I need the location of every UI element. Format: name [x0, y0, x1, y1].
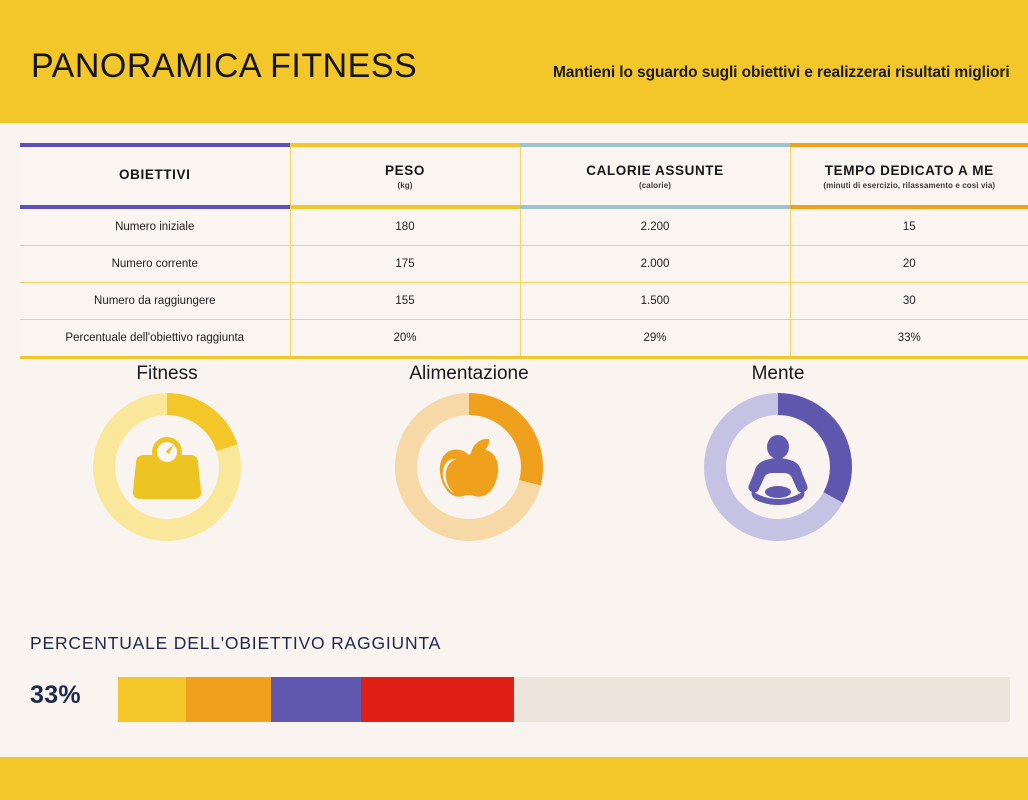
- progress-segment-mente: [271, 677, 361, 722]
- column-header-obiettivi: OBIETTIVI: [20, 147, 290, 205]
- table-row: Numero da raggiungere 155 1.500 30: [20, 283, 1028, 320]
- cell-calorie: 1.500: [520, 283, 790, 320]
- progress-segment-fitness: [118, 677, 186, 722]
- column-header-peso: PESO (kg): [290, 147, 520, 205]
- donut-gauge-group: Fitness Alimentazione: [0, 363, 1028, 578]
- donut-card-fitness: Fitness: [47, 363, 287, 541]
- progress-label: PERCENTUALE DELL'OBIETTIVO RAGGIUNTA: [30, 633, 441, 654]
- column-subtitle: (calorie): [639, 181, 671, 190]
- progress-bar[interactable]: [118, 677, 1010, 722]
- donut-title: Mente: [658, 363, 898, 385]
- donut-card-mente: Mente: [658, 363, 898, 541]
- page-title: PANORAMICA FITNESS: [31, 47, 417, 86]
- cell-peso: 155: [290, 283, 520, 320]
- goals-table: OBIETTIVI PESO (kg) CALORIE ASSUNTE: [20, 143, 1028, 359]
- donut-chart-alimentazione: [349, 393, 589, 541]
- row-label: Numero corrente: [20, 246, 290, 283]
- main-content: OBIETTIVI PESO (kg) CALORIE ASSUNTE: [0, 123, 1028, 757]
- cell-tempo: 20: [790, 246, 1028, 283]
- donut-chart-mente: [658, 393, 898, 541]
- row-label: Percentuale dell'obiettivo raggiunta: [20, 320, 290, 358]
- column-subtitle: (minuti di esercizio, rilassamento e cos…: [823, 181, 995, 190]
- weight-scale-icon: [133, 437, 201, 499]
- column-header-tempo: TEMPO DEDICATO A ME (minuti di esercizio…: [790, 147, 1028, 205]
- column-title: TEMPO DEDICATO A ME: [825, 163, 994, 178]
- cell-peso: 20%: [290, 320, 520, 358]
- column-title: PESO: [385, 163, 425, 178]
- donut-title: Alimentazione: [349, 363, 589, 385]
- cell-tempo: 30: [790, 283, 1028, 320]
- page-header: PANORAMICA FITNESS Mantieni lo sguardo s…: [0, 0, 1028, 123]
- table-row: Numero corrente 175 2.000 20: [20, 246, 1028, 283]
- table-row: Numero iniziale 180 2.200 15: [20, 209, 1028, 246]
- header-tagline: Mantieni lo sguardo sugli obiettivi e re…: [553, 64, 1010, 82]
- page-footer-band: [0, 757, 1028, 800]
- cell-calorie: 2.000: [520, 246, 790, 283]
- cell-tempo: 33%: [790, 320, 1028, 358]
- cell-peso: 175: [290, 246, 520, 283]
- table-row: Percentuale dell'obiettivo raggiunta 20%…: [20, 320, 1028, 358]
- cell-tempo: 15: [790, 209, 1028, 246]
- cell-peso: 180: [290, 209, 520, 246]
- apple-icon: [440, 439, 498, 497]
- row-label: Numero iniziale: [20, 209, 290, 246]
- donut-svg: [704, 393, 852, 541]
- cell-calorie: 29%: [520, 320, 790, 358]
- meditation-icon: [748, 435, 807, 505]
- donut-card-alimentazione: Alimentazione: [349, 363, 589, 541]
- table-header-row: OBIETTIVI PESO (kg) CALORIE ASSUNTE: [20, 147, 1028, 205]
- progress-segment-alimentazione: [186, 677, 272, 722]
- column-header-calorie: CALORIE ASSUNTE (calorie): [520, 147, 790, 205]
- column-title: OBIETTIVI: [119, 167, 190, 182]
- column-subtitle: (kg): [397, 181, 412, 190]
- donut-svg: [395, 393, 543, 541]
- row-label: Numero da raggiungere: [20, 283, 290, 320]
- donut-chart-fitness: [47, 393, 287, 541]
- progress-segment-totale: [361, 677, 514, 722]
- progress-value: 33%: [30, 681, 81, 710]
- column-title: CALORIE ASSUNTE: [586, 163, 724, 178]
- cell-calorie: 2.200: [520, 209, 790, 246]
- donut-svg: [93, 393, 241, 541]
- donut-title: Fitness: [47, 363, 287, 385]
- goals-table-wrapper: OBIETTIVI PESO (kg) CALORIE ASSUNTE: [20, 143, 1028, 365]
